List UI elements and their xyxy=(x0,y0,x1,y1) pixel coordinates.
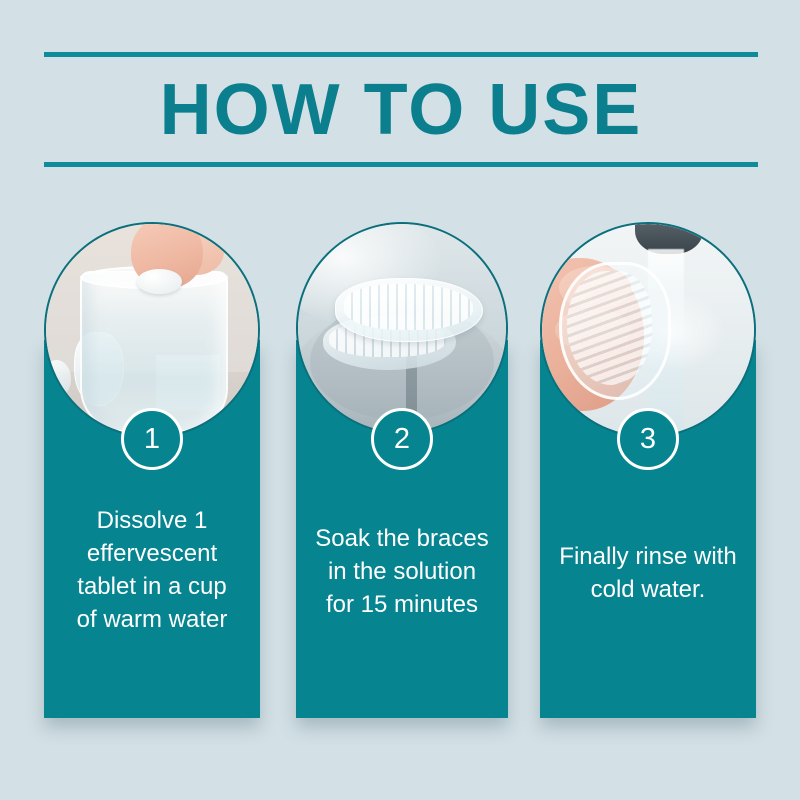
page-title: HOW TO USE xyxy=(44,57,758,162)
step-number-badge-1: 1 xyxy=(121,408,183,470)
aligner-teeth xyxy=(567,271,652,385)
step-caption-3: Finally rinse with cold water. xyxy=(540,540,756,606)
braces-soaking-in-container-photo xyxy=(298,224,506,432)
step-number-badge-2: 2 xyxy=(371,408,433,470)
steps-row: 1 Dissolve 1 effervescent tablet in a cu… xyxy=(0,222,800,742)
step-caption-1: Dissolve 1 effervescent tablet in a cup … xyxy=(44,504,260,636)
step-card-2: 2 Soak the braces in the solution for 15… xyxy=(296,222,508,718)
step-photo-1 xyxy=(44,222,260,438)
step-card-1: 1 Dissolve 1 effervescent tablet in a cu… xyxy=(44,222,260,718)
step-caption-2: Soak the braces in the solution for 15 m… xyxy=(296,522,508,621)
header: HOW TO USE xyxy=(44,52,758,167)
upper-aligner-teeth xyxy=(344,284,473,330)
rinsing-braces-under-tap-photo xyxy=(542,224,754,436)
step-number-badge-3: 3 xyxy=(617,408,679,470)
title-rule-bottom xyxy=(44,162,758,167)
step-photo-3 xyxy=(540,222,756,438)
effervescent-tablet xyxy=(137,269,182,294)
step-card-3: 3 Finally rinse with cold water. xyxy=(540,222,756,718)
step-photo-2 xyxy=(296,222,508,434)
tablet-dropped-into-glass-of-water-photo xyxy=(46,224,258,436)
